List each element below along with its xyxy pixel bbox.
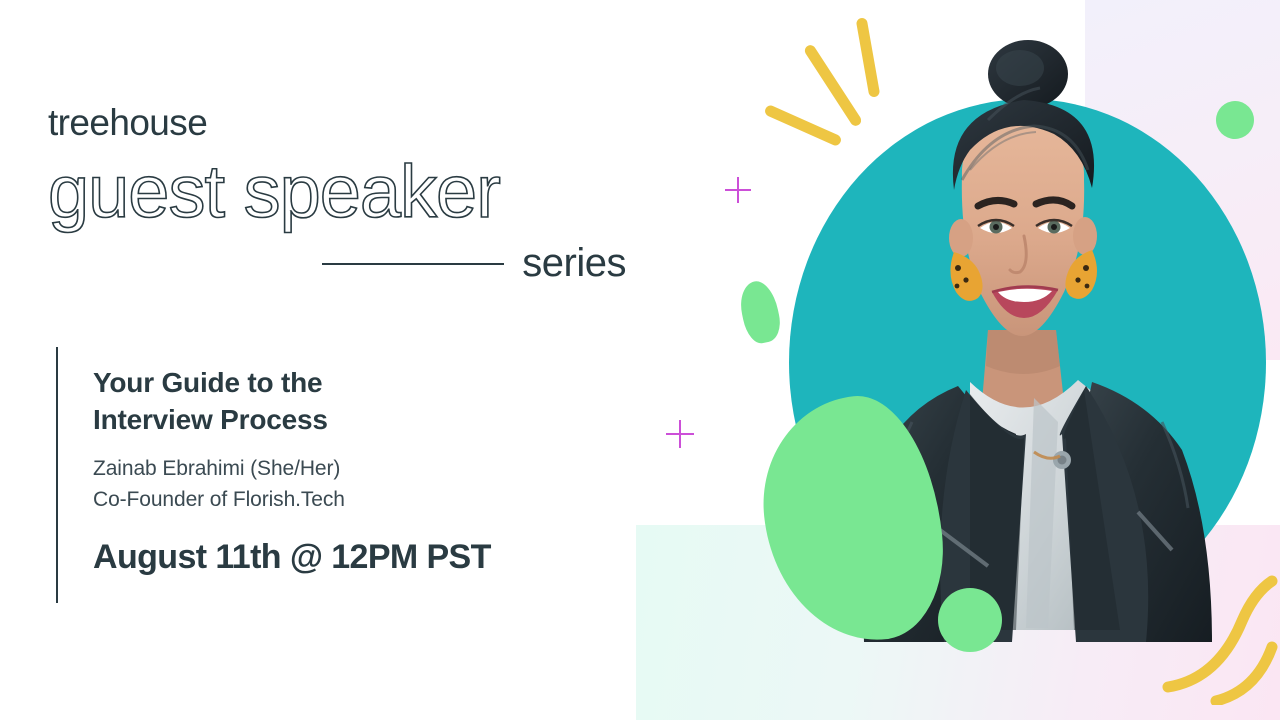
speaker-role: Co-Founder of Florish.Tech [93,484,491,516]
plus-mark-icon-1 [725,177,751,203]
series-headline: guest speaker [48,155,648,229]
green-circle-bottom [938,588,1002,652]
series-label: series [522,241,626,286]
series-row: series [48,241,626,286]
talk-title-line-2: Interview Process [93,404,328,435]
speaker-name: Zainab Ebrahimi (She/Her) [93,453,491,485]
treehouse-wordmark: treehouse [48,104,648,141]
plus-mark-icon-2 [666,420,694,448]
event-datetime: August 11th @ 12PM PST [93,538,491,577]
slide-canvas: treehouse guest speaker series Your Guid… [0,0,1280,720]
talk-title: Your Guide to the Interview Process [93,365,423,439]
brand-lockup: treehouse guest speaker series [48,104,648,286]
event-details-text: Your Guide to the Interview Process Zain… [58,347,491,603]
curved-stroke-group [1160,575,1280,705]
green-bean-blob [736,278,784,346]
event-details: Your Guide to the Interview Process Zain… [56,347,491,603]
talk-title-line-1: Your Guide to the [93,367,322,398]
horizontal-rule-icon [322,263,504,265]
